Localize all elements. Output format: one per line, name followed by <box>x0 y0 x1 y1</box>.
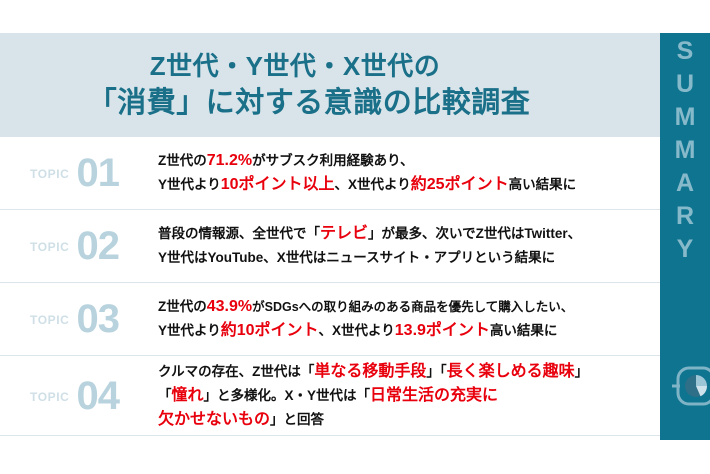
highlighted-text: 10ポイント以上 <box>221 176 335 193</box>
plain-text: 、X世代より <box>335 177 411 192</box>
plain-text: 」 <box>575 364 589 379</box>
topic-text-line: Y世代より約10ポイント、X世代より13.9ポイント高い結果に <box>158 319 660 343</box>
topic-number: 02 <box>76 226 119 266</box>
plain-text: 、X世代より <box>319 323 395 338</box>
topic-text-line: クルマの存在、Z世代は「単なる移動手段」「長く楽しめる趣味」 <box>158 360 660 384</box>
plain-text: がサブスク利用経験あり、 <box>252 153 413 168</box>
topic-text: クルマの存在、Z世代は「単なる移動手段」「長く楽しめる趣味」「憧れ」と多様化。X… <box>158 360 660 432</box>
topic-row: TOPIC04クルマの存在、Z世代は「単なる移動手段」「長く楽しめる趣味」「憧れ… <box>0 356 660 436</box>
pie-chart-logo-icon <box>672 366 710 406</box>
plain-text: 」が最多、次いでZ世代はTwitter、 <box>368 226 581 241</box>
topic-text: 普段の情報源、全世代で「テレビ」が最多、次いでZ世代はTwitter、Y世代はY… <box>158 222 660 270</box>
plain-text: 」「 <box>426 364 446 379</box>
topic-badge-04: TOPIC04 <box>30 376 158 416</box>
highlighted-text: 71.2% <box>207 152 252 169</box>
plain-text: 」と多様化。X・Y世代は「 <box>204 388 371 403</box>
plain-text: 」と回答 <box>270 412 324 427</box>
plain-text: Y世代より <box>158 323 221 338</box>
topic-row: TOPIC02普段の情報源、全世代で「テレビ」が最多、次いでZ世代はTwitte… <box>0 210 660 283</box>
topic-text-line: Z世代の43.9%がSDGsへの取り組みのある商品を優先して購入したい、 <box>158 295 660 319</box>
topic-row: TOPIC03Z世代の43.9%がSDGsへの取り組みのある商品を優先して購入し… <box>0 283 660 356</box>
plain-text: Y世代はYouTube、X世代はニュースサイト・アプリという結果に <box>158 250 555 265</box>
highlighted-text: 欠かせないもの <box>158 411 270 428</box>
page-title-line-2: 「消費」に対する意識の比較調査 <box>88 87 531 120</box>
topic-badge-02: TOPIC02 <box>30 226 158 266</box>
plain-text: Z世代の <box>158 299 207 314</box>
topic-number: 04 <box>76 376 119 416</box>
topic-text: Z世代の43.9%がSDGsへの取り組みのある商品を優先して購入したい、Y世代よ… <box>158 295 660 343</box>
topic-number: 01 <box>76 153 119 193</box>
topic-list: TOPIC01Z世代の71.2%がサブスク利用経験あり、Y世代より10ポイント以… <box>0 137 660 437</box>
highlighted-text: 43.9% <box>207 298 252 315</box>
topic-word-label: TOPIC <box>30 390 69 404</box>
plain-text: 「 <box>158 388 172 403</box>
topic-number: 03 <box>76 299 119 339</box>
topic-text-line: 「憧れ」と多様化。X・Y世代は「日常生活の充実に <box>158 384 660 408</box>
plain-text: Y世代より <box>158 177 221 192</box>
topic-badge-01: TOPIC01 <box>30 153 158 193</box>
plain-text: 高い結果に <box>509 177 577 192</box>
topic-word-label: TOPIC <box>30 240 69 254</box>
plain-text: 普段の情報源、全世代で「 <box>158 226 320 241</box>
summary-sidebar: SUMMARY <box>660 33 710 440</box>
topic-text: Z世代の71.2%がサブスク利用経験あり、Y世代より10ポイント以上、X世代より… <box>158 149 660 197</box>
highlighted-text: 約25ポイント <box>411 176 509 193</box>
highlighted-text: 日常生活の充実に <box>370 387 498 404</box>
highlighted-text: 長く楽しめる趣味 <box>447 363 575 380</box>
plain-text: 高い結果に <box>490 323 558 338</box>
plain-text: クルマの存在、Z世代は「 <box>158 364 314 379</box>
highlighted-text: 13.9ポイント <box>395 322 490 339</box>
topic-text-line: Y世代はYouTube、X世代はニュースサイト・アプリという結果に <box>158 246 660 270</box>
topic-word-label: TOPIC <box>30 313 69 327</box>
topic-row: TOPIC01Z世代の71.2%がサブスク利用経験あり、Y世代より10ポイント以… <box>0 137 660 210</box>
infographic-page: Z世代・Y世代・X世代の 「消費」に対する意識の比較調査 TOPIC01Z世代の… <box>0 0 710 474</box>
highlighted-text: 単なる移動手段 <box>314 363 426 380</box>
sidebar-label-summary: SUMMARY <box>660 37 710 268</box>
highlighted-text: 憧れ <box>172 387 204 404</box>
header-band: Z世代・Y世代・X世代の 「消費」に対する意識の比較調査 <box>0 33 710 137</box>
highlighted-text: テレビ <box>320 225 368 242</box>
topic-word-label: TOPIC <box>30 167 69 181</box>
page-title-line-1: Z世代・Y世代・X世代の <box>150 51 441 81</box>
topic-text-line: 普段の情報源、全世代で「テレビ」が最多、次いでZ世代はTwitter、 <box>158 222 660 246</box>
highlighted-text: 約10ポイント <box>221 322 319 339</box>
plain-text: がSDGsへの取り組みのある商品を優先して購入したい、 <box>252 300 573 314</box>
plain-text: Z世代の <box>158 153 207 168</box>
topic-badge-03: TOPIC03 <box>30 299 158 339</box>
topic-text-line: Z世代の71.2%がサブスク利用経験あり、 <box>158 149 660 173</box>
topic-text-line: 欠かせないもの」と回答 <box>158 408 660 432</box>
topic-text-line: Y世代より10ポイント以上、X世代より約25ポイント高い結果に <box>158 173 660 197</box>
